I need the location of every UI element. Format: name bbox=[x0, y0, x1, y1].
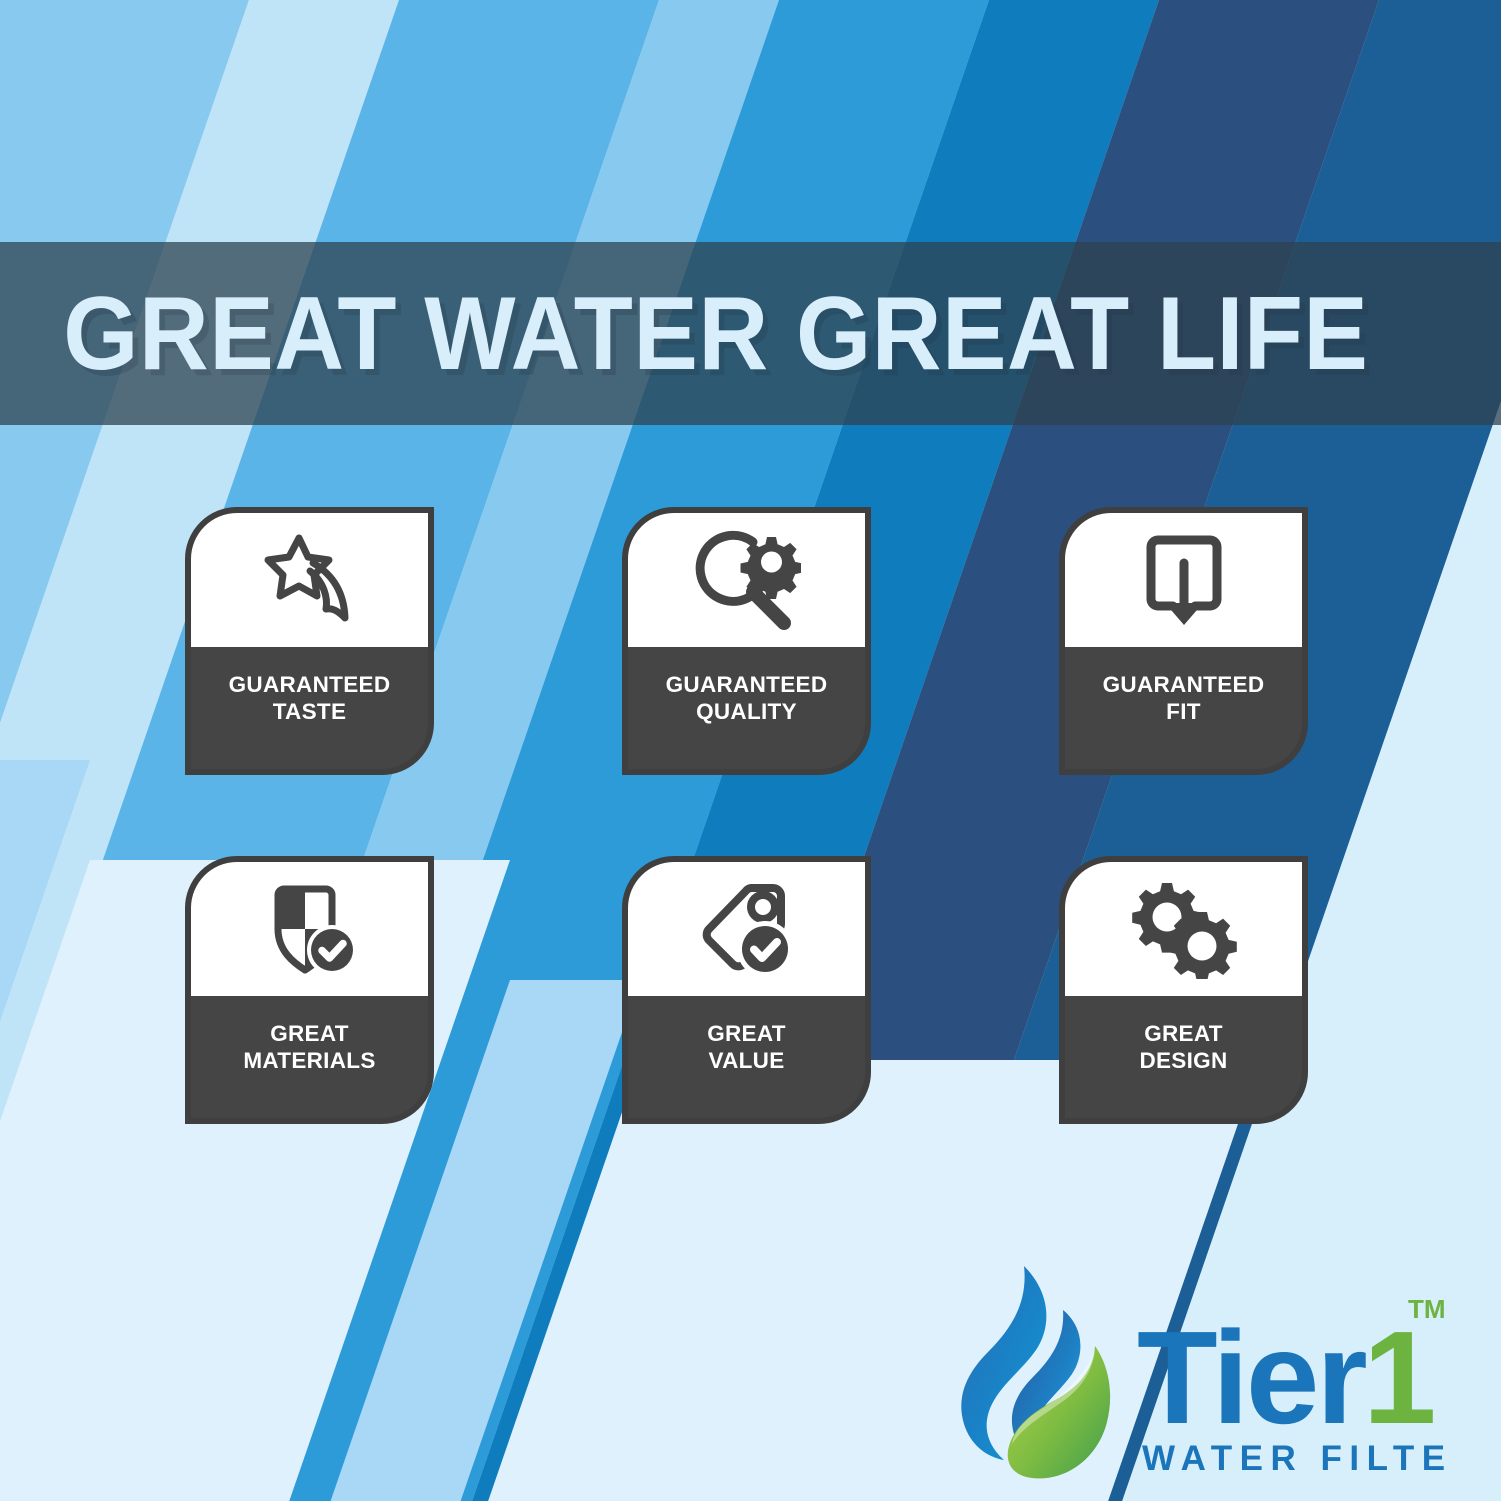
feature-card-guaranteed-fit[interactable]: GUARANTEED FIT bbox=[1059, 507, 1308, 775]
feature-card-great-materials[interactable]: GREAT MATERIALS bbox=[185, 856, 434, 1124]
box-down-arrow-icon bbox=[1137, 530, 1231, 630]
feature-card-guaranteed-quality[interactable]: GUARANTEED QUALITY bbox=[622, 507, 871, 775]
infographic-canvas: GREAT WATER GREAT LIFE GUARANTEED TASTE bbox=[0, 0, 1501, 1501]
icon-panel bbox=[628, 862, 865, 996]
icon-panel bbox=[1065, 862, 1302, 996]
two-gears-icon bbox=[1129, 879, 1239, 979]
logo-number: 1 bbox=[1363, 1304, 1436, 1451]
price-tag-check-icon bbox=[695, 879, 799, 979]
card-label: GUARANTEED TASTE bbox=[191, 647, 428, 769]
header-band: GREAT WATER GREAT LIFE bbox=[0, 242, 1501, 425]
feature-card-great-value[interactable]: GREAT VALUE bbox=[622, 856, 871, 1124]
card-label: GREAT DESIGN bbox=[1065, 996, 1302, 1118]
icon-panel bbox=[1065, 513, 1302, 647]
card-label: GUARANTEED FIT bbox=[1065, 647, 1302, 769]
shield-check-icon bbox=[260, 879, 360, 979]
logo-wordmark: Tier bbox=[1137, 1304, 1366, 1451]
card-label: GUARANTEED QUALITY bbox=[628, 647, 865, 769]
brand-logo: Tier 1 TM WATER FILTERS bbox=[952, 1258, 1452, 1490]
card-label: GREAT MATERIALS bbox=[191, 996, 428, 1118]
icon-panel bbox=[191, 513, 428, 647]
shooting-star-icon bbox=[258, 530, 362, 630]
feature-card-great-design[interactable]: GREAT DESIGN bbox=[1059, 856, 1308, 1124]
magnifier-gear-icon bbox=[693, 530, 801, 630]
feature-row-1: GUARANTEED TASTE GUARANTEED QUALITY bbox=[185, 507, 1331, 775]
logo-tagline: WATER FILTERS bbox=[1142, 1439, 1452, 1478]
page-title: GREAT WATER GREAT LIFE bbox=[0, 282, 1368, 386]
icon-panel bbox=[628, 513, 865, 647]
feature-card-grid: GUARANTEED TASTE GUARANTEED QUALITY bbox=[185, 507, 1331, 1124]
feature-row-2: GREAT MATERIALS GREAT VALUE bbox=[185, 856, 1331, 1124]
icon-panel bbox=[191, 862, 428, 996]
water-droplet-leaf-icon bbox=[961, 1266, 1110, 1478]
logo-trademark: TM bbox=[1408, 1294, 1446, 1324]
feature-card-guaranteed-taste[interactable]: GUARANTEED TASTE bbox=[185, 507, 434, 775]
card-label: GREAT VALUE bbox=[628, 996, 865, 1118]
